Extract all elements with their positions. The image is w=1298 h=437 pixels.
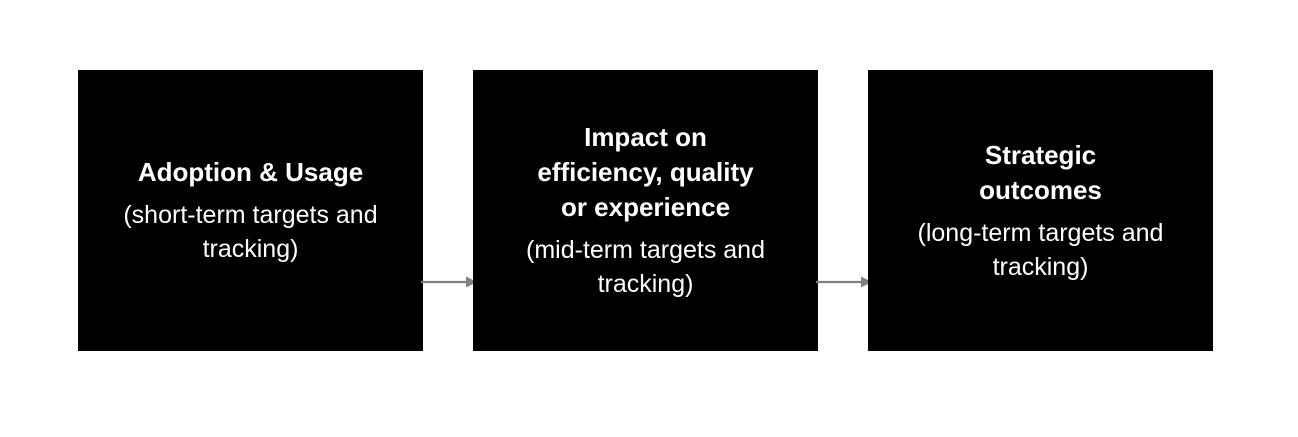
diagram-canvas: Adoption & Usage (short-term targets and… — [0, 0, 1298, 437]
flow-node-subtitle: (short-term targets and tracking) — [88, 198, 413, 266]
flow-node-title: Adoption & Usage — [138, 155, 363, 190]
flow-node-title: Impact on efficiency, quality or experie… — [537, 120, 753, 225]
flow-node-title: Strategic outcomes — [979, 138, 1102, 208]
arrow-right-icon — [816, 274, 872, 290]
arrow-right-icon — [421, 274, 477, 290]
flow-node-impact[interactable]: Impact on efficiency, quality or experie… — [473, 70, 818, 351]
flow-node-adoption-usage[interactable]: Adoption & Usage (short-term targets and… — [78, 70, 423, 351]
flow-stage: Adoption & Usage (short-term targets and… — [0, 70, 1298, 351]
flow-connector-2 — [816, 274, 872, 290]
flow-node-subtitle: (mid-term targets and tracking) — [483, 233, 808, 301]
flow-node-subtitle: (long-term targets and tracking) — [878, 216, 1203, 284]
flow-node-strategic-outcomes[interactable]: Strategic outcomes (long-term targets an… — [868, 70, 1213, 351]
flow-connector-1 — [421, 274, 477, 290]
